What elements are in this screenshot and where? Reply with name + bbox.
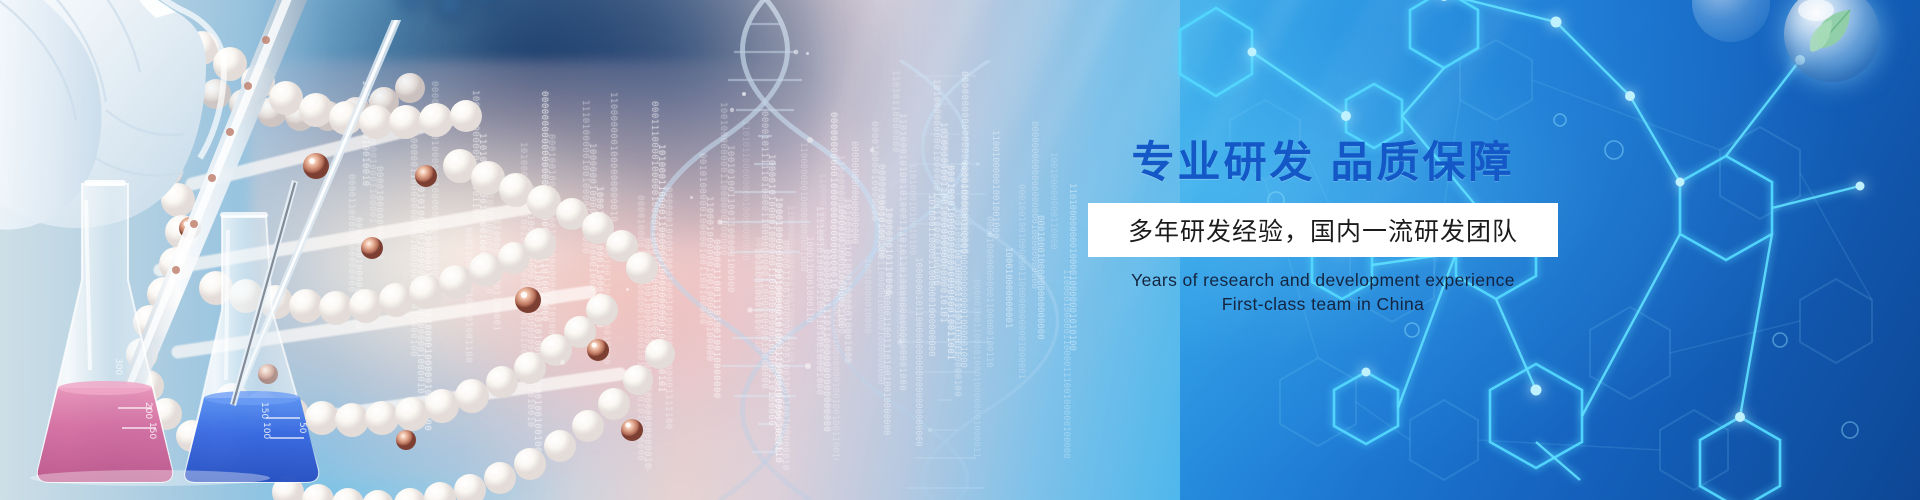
banner-english-subtitle: Years of research and development experi… [1088, 269, 1558, 316]
particle-dot [560, 360, 565, 365]
banner-highlight-bar: 多年研发经验，国内一流研发团队 [1088, 203, 1558, 257]
particle-dot [870, 148, 874, 152]
svg-text:50: 50 [297, 422, 307, 434]
erlenmeyer-flask-blue: 150 100 50 [185, 180, 318, 482]
banner-headline: 专业研发 品质保障 [1088, 140, 1558, 187]
dna-helix-blue-mesh-icon [790, 60, 1080, 500]
particle-dot [742, 92, 746, 96]
svg-text:150: 150 [147, 422, 157, 439]
svg-text:150: 150 [259, 402, 269, 419]
flask-group: 200 150 300 150 100 50 [0, 170, 340, 500]
particle-dot [626, 288, 629, 291]
erlenmeyer-flask-pink: 200 150 300 [38, 180, 173, 482]
banner-english-line-2: First-class team in China [1088, 293, 1558, 317]
banner-text-block: 专业研发 品质保障 多年研发经验，国内一流研发团队 Years of resea… [1088, 140, 1558, 317]
hero-banner: 0000000000000000000100000000000101000001… [0, 0, 1920, 500]
particle-dot [806, 52, 809, 55]
banner-english-line-1: Years of research and development experi… [1088, 269, 1558, 293]
svg-text:300: 300 [113, 358, 123, 375]
svg-text:100: 100 [261, 422, 271, 439]
svg-text:200: 200 [143, 402, 153, 419]
particle-dot [690, 196, 693, 199]
banner-highlight-bar-text: 多年研发经验，国内一流研发团队 [1128, 212, 1518, 248]
leaf-bubble-icon [1784, 0, 1880, 82]
